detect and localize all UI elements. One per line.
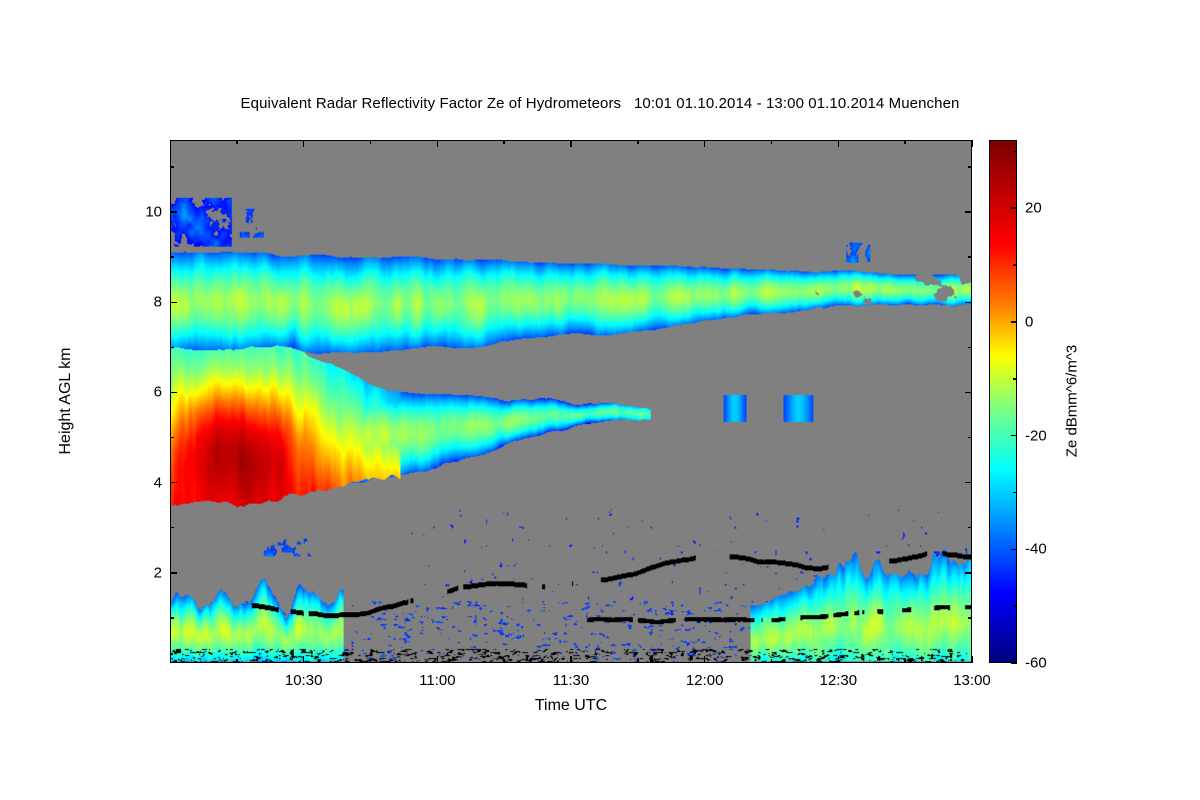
x-tick-major-top <box>838 140 840 147</box>
y-tick-label: 6 <box>122 384 162 401</box>
y-tick-label: 2 <box>122 564 162 581</box>
y-tick-major <box>170 482 177 484</box>
heatmap-plot-area[interactable] <box>170 140 972 663</box>
x-tick-major-top <box>303 140 305 147</box>
y-tick-minor-right <box>968 347 972 349</box>
x-tick-minor <box>904 659 906 663</box>
y-tick-minor <box>170 166 174 168</box>
colorbar-tick-major <box>1011 207 1017 209</box>
x-tick-minor <box>771 659 773 663</box>
x-tick-minor <box>236 659 238 663</box>
y-tick-major-right <box>965 211 972 213</box>
y-axis-title: Height AGL km <box>57 347 75 454</box>
y-tick-minor-right <box>968 617 972 619</box>
colorbar-tick-label: -60 <box>1025 655 1047 672</box>
y-tick-major <box>170 211 177 213</box>
x-tick-minor-top <box>236 140 238 144</box>
x-tick-major <box>437 656 439 663</box>
x-tick-major <box>971 656 973 663</box>
x-tick-minor-top <box>370 140 372 144</box>
colorbar-tick-major <box>1011 549 1017 551</box>
y-tick-minor <box>170 527 174 529</box>
reflectivity-heatmap-canvas <box>171 141 971 662</box>
x-tick-major-top <box>437 140 439 147</box>
y-tick-major-right <box>965 302 972 304</box>
x-tick-label: 12:30 <box>798 672 878 689</box>
colorbar-tick-label: -20 <box>1025 427 1047 444</box>
colorbar-tick-label: 0 <box>1025 313 1033 330</box>
y-tick-label: 10 <box>122 204 162 221</box>
colorbar-tick-minor <box>1013 151 1017 153</box>
x-tick-major <box>570 656 572 663</box>
x-tick-label: 13:00 <box>932 672 1012 689</box>
x-tick-major-top <box>704 140 706 147</box>
colorbar-tick-label: -40 <box>1025 541 1047 558</box>
colorbar-tick-minor <box>1013 492 1017 494</box>
x-tick-minor-top <box>503 140 505 144</box>
y-tick-minor <box>170 437 174 439</box>
chart-title: Equivalent Radar Reflectivity Factor Ze … <box>0 95 1200 112</box>
x-tick-label: 10:30 <box>264 672 344 689</box>
y-tick-major <box>170 572 177 574</box>
x-tick-major-top <box>971 140 973 147</box>
x-tick-minor <box>637 659 639 663</box>
y-tick-major-right <box>965 482 972 484</box>
y-tick-label: 4 <box>122 474 162 491</box>
x-tick-major <box>704 656 706 663</box>
x-tick-major <box>303 656 305 663</box>
colorbar-tick-major <box>1011 321 1017 323</box>
y-tick-major <box>170 302 177 304</box>
y-tick-minor-right <box>968 256 972 258</box>
colorbar-tick-minor <box>1013 605 1017 607</box>
y-tick-minor-right <box>968 437 972 439</box>
y-tick-minor <box>170 347 174 349</box>
x-tick-minor <box>503 659 505 663</box>
colorbar[interactable] <box>989 140 1017 663</box>
y-tick-minor <box>170 256 174 258</box>
y-tick-major-right <box>965 392 972 394</box>
y-tick-minor-right <box>968 166 972 168</box>
x-tick-label: 12:00 <box>665 672 745 689</box>
x-tick-label: 11:00 <box>397 672 477 689</box>
radar-reflectivity-figure: Equivalent Radar Reflectivity Factor Ze … <box>0 0 1200 800</box>
y-tick-major-right <box>965 572 972 574</box>
colorbar-tick-major <box>1011 662 1017 664</box>
x-axis-title: Time UTC <box>170 697 972 715</box>
x-tick-major <box>838 656 840 663</box>
colorbar-title: Ze dBmm^6/m^3 <box>1064 345 1081 457</box>
x-tick-minor <box>370 659 372 663</box>
y-tick-label: 8 <box>122 294 162 311</box>
colorbar-tick-label: 20 <box>1025 200 1042 217</box>
colorbar-tick-minor <box>1013 264 1017 266</box>
x-tick-minor-top <box>771 140 773 144</box>
x-tick-label: 11:30 <box>531 672 611 689</box>
y-tick-minor <box>170 617 174 619</box>
colorbar-tick-minor <box>1013 378 1017 380</box>
y-tick-major <box>170 392 177 394</box>
colorbar-tick-major <box>1011 435 1017 437</box>
x-tick-minor-top <box>904 140 906 144</box>
colorbar-gradient <box>990 141 1016 662</box>
x-tick-major-top <box>570 140 572 147</box>
y-tick-minor-right <box>968 527 972 529</box>
x-tick-minor-top <box>637 140 639 144</box>
